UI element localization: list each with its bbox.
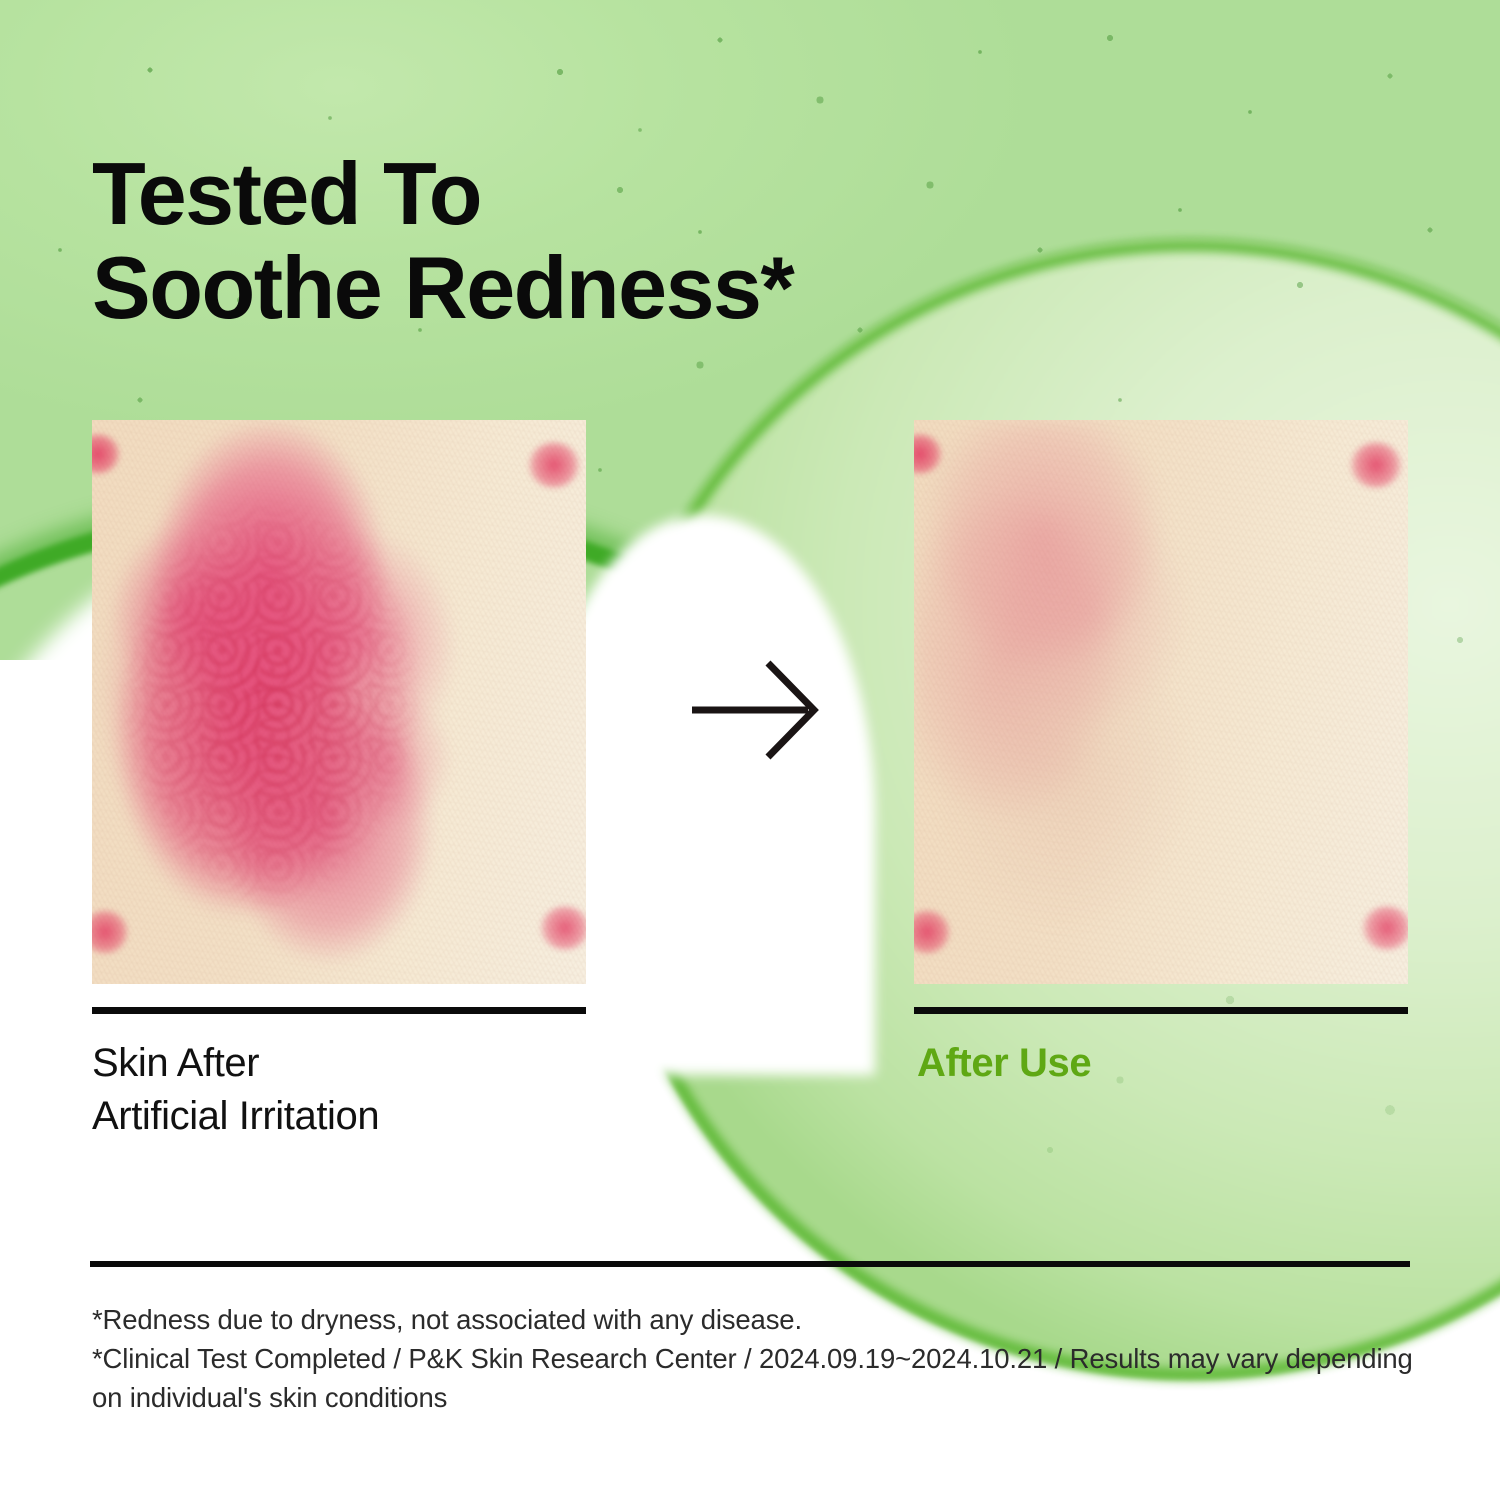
marker-dot-top-right	[528, 442, 580, 488]
marker-dot-bottom-right	[1362, 906, 1408, 950]
page-title: Tested To Soothe Redness*	[92, 147, 793, 335]
caption-before: Skin After Artificial Irritation	[92, 1037, 379, 1143]
caption-after: After Use	[917, 1037, 1091, 1090]
headline-line-1: Tested To	[92, 144, 481, 243]
before-image-panel	[92, 420, 586, 984]
caption-rule-after	[914, 1007, 1408, 1014]
caption-after-line-1: After Use	[917, 1041, 1091, 1085]
footnotes: *Redness due to dryness, not associated …	[92, 1300, 1432, 1417]
product-claim-graphic: Tested To Soothe Redness* Skin After Art…	[0, 0, 1500, 1500]
footer-divider	[90, 1261, 1410, 1267]
headline-line-2: Soothe Redness*	[92, 238, 793, 337]
redness-patch-faint	[914, 420, 1408, 984]
after-image-panel	[914, 420, 1408, 984]
caption-rule-before	[92, 1007, 586, 1014]
caption-before-line-1: Skin After	[92, 1041, 259, 1085]
caption-before-line-2: Artificial Irritation	[92, 1094, 379, 1138]
marker-dot-bottom-right	[540, 906, 586, 950]
arrow-right-icon	[690, 655, 826, 765]
marker-dot-top-right	[1350, 442, 1402, 488]
footnote-1: *Redness due to dryness, not associated …	[92, 1300, 1432, 1339]
footnote-2: *Clinical Test Completed / P&K Skin Rese…	[92, 1339, 1432, 1417]
redness-mottle-before	[92, 420, 586, 984]
